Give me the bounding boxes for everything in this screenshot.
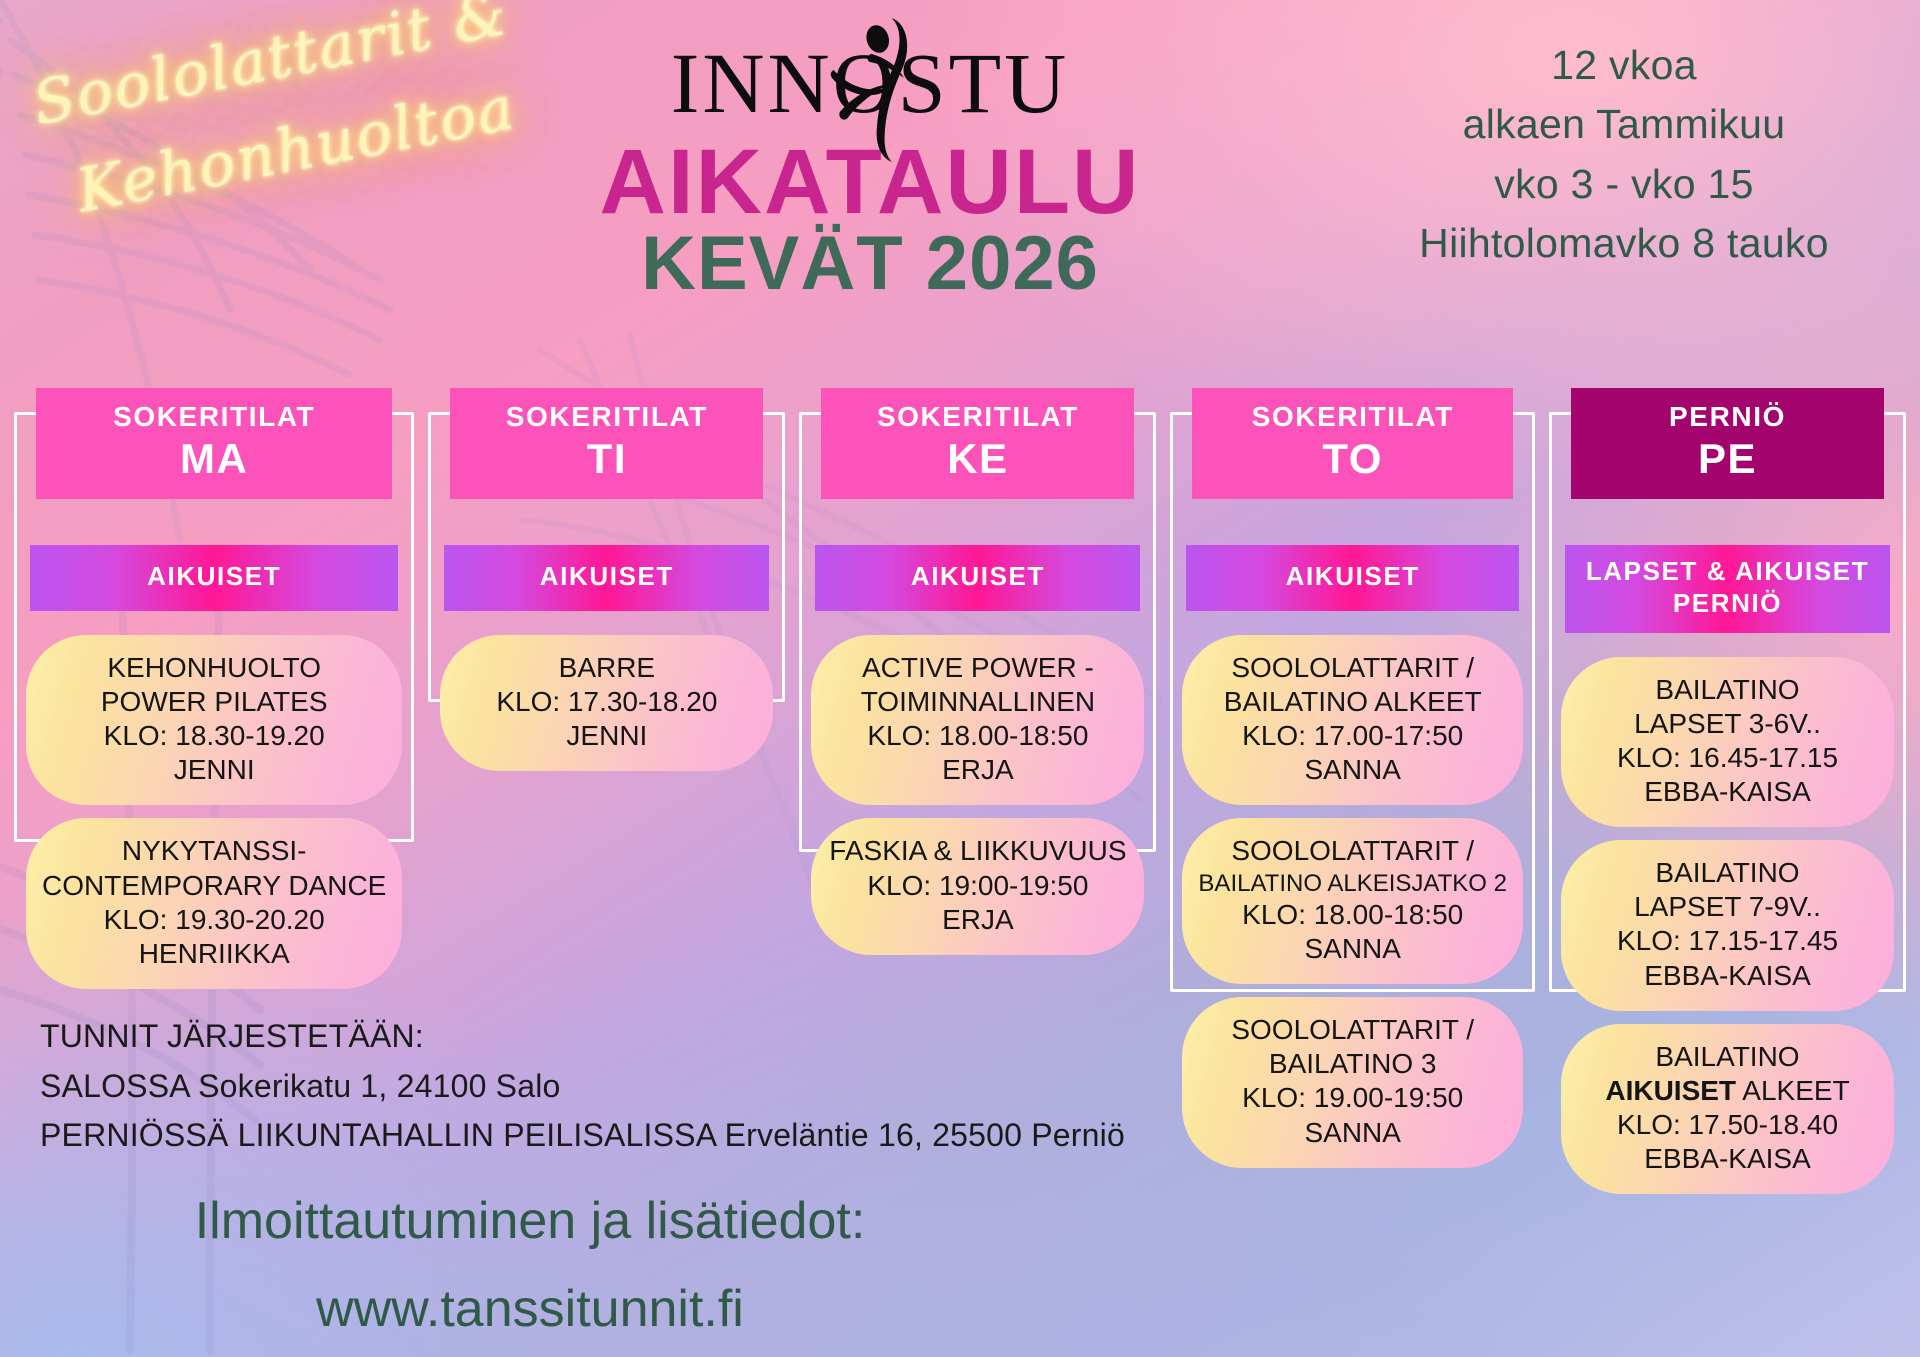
day-label: KE (827, 435, 1128, 483)
class-detail: TOIMINNALLINEN (827, 685, 1128, 719)
signup-website-link[interactable]: www.tanssitunnit.fi (0, 1278, 1060, 1340)
venue-label: SOKERITILAT (42, 402, 386, 433)
class-card[interactable]: KEHONHUOLTOPOWER PILATESKLO: 18.30-19.20… (26, 635, 402, 806)
class-instructor: ERJA (827, 903, 1128, 937)
venue-label: SOKERITILAT (827, 402, 1128, 433)
class-card[interactable]: NYKYTANSSI-CONTEMPORARY DANCEKLO: 19.30-… (26, 818, 402, 989)
page-title: AIKATAULU (560, 136, 1180, 228)
class-instructor: HENRIIKKA (42, 937, 386, 971)
class-detail: BAILATINO ALKEET (1198, 685, 1507, 719)
group-band: AIKUISET (1186, 545, 1519, 611)
day-header-to[interactable]: SOKERITILATTO (1192, 388, 1513, 499)
class-time: KLO: 18.30-19.20 (42, 719, 386, 753)
class-instructor: EBBA-KAISA (1577, 775, 1878, 809)
group-band-line: AIKUISET (36, 561, 392, 593)
group-band: AIKUISET (444, 545, 769, 611)
schedule-column-ti: SOKERITILATTIAIKUISETBARREKLO: 17.30-18.… (428, 388, 785, 784)
class-instructor: JENNI (456, 719, 757, 753)
schedule-column-ma: SOKERITILATMAAIKUISETKEHONHUOLTOPOWER PI… (14, 388, 414, 1002)
class-card-list: SOOLOLATTARIT /BAILATINO ALKEETKLO: 17.0… (1182, 635, 1523, 1168)
season-info: 12 vkoa alkaen Tammikuu vko 3 - vko 15 H… (1354, 36, 1894, 274)
season-info-line-1: 12 vkoa (1354, 36, 1894, 95)
class-card[interactable]: SOOLOLATTARIT /BAILATINO ALKEISJATKO 2KL… (1182, 818, 1523, 984)
signup-block: Ilmoittautuminen ja lisätiedot: www.tans… (0, 1190, 1060, 1341)
class-name: BAILATINO (1577, 1040, 1878, 1074)
signup-label: Ilmoittautuminen ja lisätiedot: (0, 1190, 1060, 1252)
neon-line-1: Soololattarit & (28, 0, 534, 139)
brand-header: INNO STU AIKATAULU KEVÄT 2026 (560, 38, 1180, 302)
logo-text-right: STU (898, 43, 1069, 125)
venues-info: TUNNIT JÄRJESTETÄÄN: SALOSSA Sokerikatu … (40, 1012, 1125, 1161)
day-label: TO (1198, 435, 1507, 483)
class-name: SOOLOLATTARIT / (1198, 651, 1507, 685)
group-band: AIKUISET (815, 545, 1140, 611)
class-name: BARRE (456, 651, 757, 685)
class-card-list: KEHONHUOLTOPOWER PILATESKLO: 18.30-19.20… (26, 635, 402, 989)
class-time: KLO: 16.45-17.15 (1577, 741, 1878, 775)
day-header-ma[interactable]: SOKERITILATMA (36, 388, 392, 499)
season-info-line-3: vko 3 - vko 15 (1354, 155, 1894, 214)
class-instructor: EBBA-KAISA (1577, 1142, 1878, 1176)
class-card-list: ACTIVE POWER -TOIMINNALLINENKLO: 18.00-1… (811, 635, 1144, 955)
group-band: LAPSET & AIKUISETPERNIÖ (1565, 545, 1890, 632)
logo-innostu: INNO STU (560, 38, 1180, 130)
day-label: PE (1577, 435, 1878, 483)
venue-label: SOKERITILAT (456, 402, 757, 433)
class-detail: BAILATINO 3 (1198, 1047, 1507, 1081)
class-time: KLO: 17.15-17.45 (1577, 924, 1878, 958)
venues-line-3: PERNIÖSSÄ LIIKUNTAHALLIN PEILISALISSA Er… (40, 1111, 1125, 1161)
class-name: ACTIVE POWER - (827, 651, 1128, 685)
group-band-line: PERNIÖ (1571, 588, 1884, 620)
class-name: SOOLOLATTARIT / (1198, 834, 1507, 868)
class-name: BAILATINO (1577, 856, 1878, 890)
class-card[interactable]: SOOLOLATTARIT /BAILATINO 3KLO: 19.00-19:… (1182, 997, 1523, 1168)
schedule-column-ke: SOKERITILATKEAIKUISETACTIVE POWER -TOIMI… (799, 388, 1156, 968)
class-card[interactable]: BARREKLO: 17.30-18.20JENNI (440, 635, 773, 771)
class-time: KLO: 19.30-20.20 (42, 903, 386, 937)
class-detail: LAPSET 7-9V.. (1577, 890, 1878, 924)
class-time: KLO: 19:00-19:50 (827, 869, 1128, 903)
poster-canvas: Soololattarit & Kehonhuoltoa INNO STU AI… (0, 0, 1920, 1357)
class-instructor: SANNA (1198, 932, 1507, 966)
page-subtitle: KEVÄT 2026 (560, 226, 1180, 302)
schedule-column-to: SOKERITILATTOAIKUISETSOOLOLATTARIT /BAIL… (1170, 388, 1535, 1181)
class-detail: POWER PILATES (42, 685, 386, 719)
neon-script-headline: Soololattarit & Kehonhuoltoa (10, 0, 570, 329)
class-card-list: BARREKLO: 17.30-18.20JENNI (440, 635, 773, 771)
class-instructor: EBBA-KAISA (1577, 959, 1878, 993)
class-time: KLO: 17.30-18.20 (456, 685, 757, 719)
venue-label: PERNIÖ (1577, 402, 1878, 433)
day-label: MA (42, 435, 386, 483)
class-instructor: SANNA (1198, 1116, 1507, 1150)
class-card[interactable]: FASKIA & LIIKKUVUUSKLO: 19:00-19:50ERJA (811, 818, 1144, 954)
day-header-pe[interactable]: PERNIÖPE (1571, 388, 1884, 499)
class-card[interactable]: ACTIVE POWER -TOIMINNALLINENKLO: 18.00-1… (811, 635, 1144, 806)
class-card[interactable]: SOOLOLATTARIT /BAILATINO ALKEETKLO: 17.0… (1182, 635, 1523, 806)
class-instructor: SANNA (1198, 753, 1507, 787)
group-band-line: AIKUISET (821, 561, 1134, 593)
schedule-column-pe: PERNIÖPELAPSET & AIKUISETPERNIÖBAILATINO… (1549, 388, 1906, 1207)
group-band: AIKUISET (30, 545, 398, 611)
class-name: SOOLOLATTARIT / (1198, 1013, 1507, 1047)
class-card[interactable]: BAILATINOLAPSET 7-9V..KLO: 17.15-17.45EB… (1561, 840, 1894, 1011)
season-info-line-2: alkaen Tammikuu (1354, 95, 1894, 154)
class-detail: LAPSET 3-6V.. (1577, 707, 1878, 741)
class-name: KEHONHUOLTO (42, 651, 386, 685)
class-time: KLO: 18.00-18:50 (827, 719, 1128, 753)
group-band-line: AIKUISET (450, 561, 763, 593)
class-name: FASKIA & LIIKKUVUUS (827, 834, 1128, 868)
class-card[interactable]: BAILATINOAIKUISET ALKEETKLO: 17.50-18.40… (1561, 1024, 1894, 1195)
season-info-line-4: Hiihtolomavko 8 tauko (1354, 214, 1894, 273)
class-time: KLO: 17.00-17:50 (1198, 719, 1507, 753)
venue-label: SOKERITILAT (1198, 402, 1507, 433)
day-header-ti[interactable]: SOKERITILATTI (450, 388, 763, 499)
venues-line-1: TUNNIT JÄRJESTETÄÄN: (40, 1012, 1125, 1062)
class-detail: BAILATINO ALKEISJATKO 2 (1198, 869, 1507, 898)
logo-text-left: INNO (671, 43, 898, 125)
class-card[interactable]: BAILATINOLAPSET 3-6V..KLO: 16.45-17.15EB… (1561, 657, 1894, 828)
group-band-line: AIKUISET (1192, 561, 1513, 593)
day-header-ke[interactable]: SOKERITILATKE (821, 388, 1134, 499)
class-time: KLO: 17.50-18.40 (1577, 1108, 1878, 1142)
class-detail: CONTEMPORARY DANCE (42, 869, 386, 903)
neon-line-2: Kehonhuoltoa (71, 67, 552, 227)
class-instructor: JENNI (42, 753, 386, 787)
class-time: KLO: 18.00-18:50 (1198, 898, 1507, 932)
group-band-line: LAPSET & AIKUISET (1571, 556, 1884, 588)
class-card-list: BAILATINOLAPSET 3-6V..KLO: 16.45-17.15EB… (1561, 657, 1894, 1195)
class-name: BAILATINO (1577, 673, 1878, 707)
day-label: TI (456, 435, 757, 483)
venues-line-2: SALOSSA Sokerikatu 1, 24100 Salo (40, 1062, 1125, 1112)
class-time: KLO: 19.00-19:50 (1198, 1081, 1507, 1115)
class-detail: AIKUISET ALKEET (1577, 1074, 1878, 1108)
class-name: NYKYTANSSI- (42, 834, 386, 868)
class-instructor: ERJA (827, 753, 1128, 787)
